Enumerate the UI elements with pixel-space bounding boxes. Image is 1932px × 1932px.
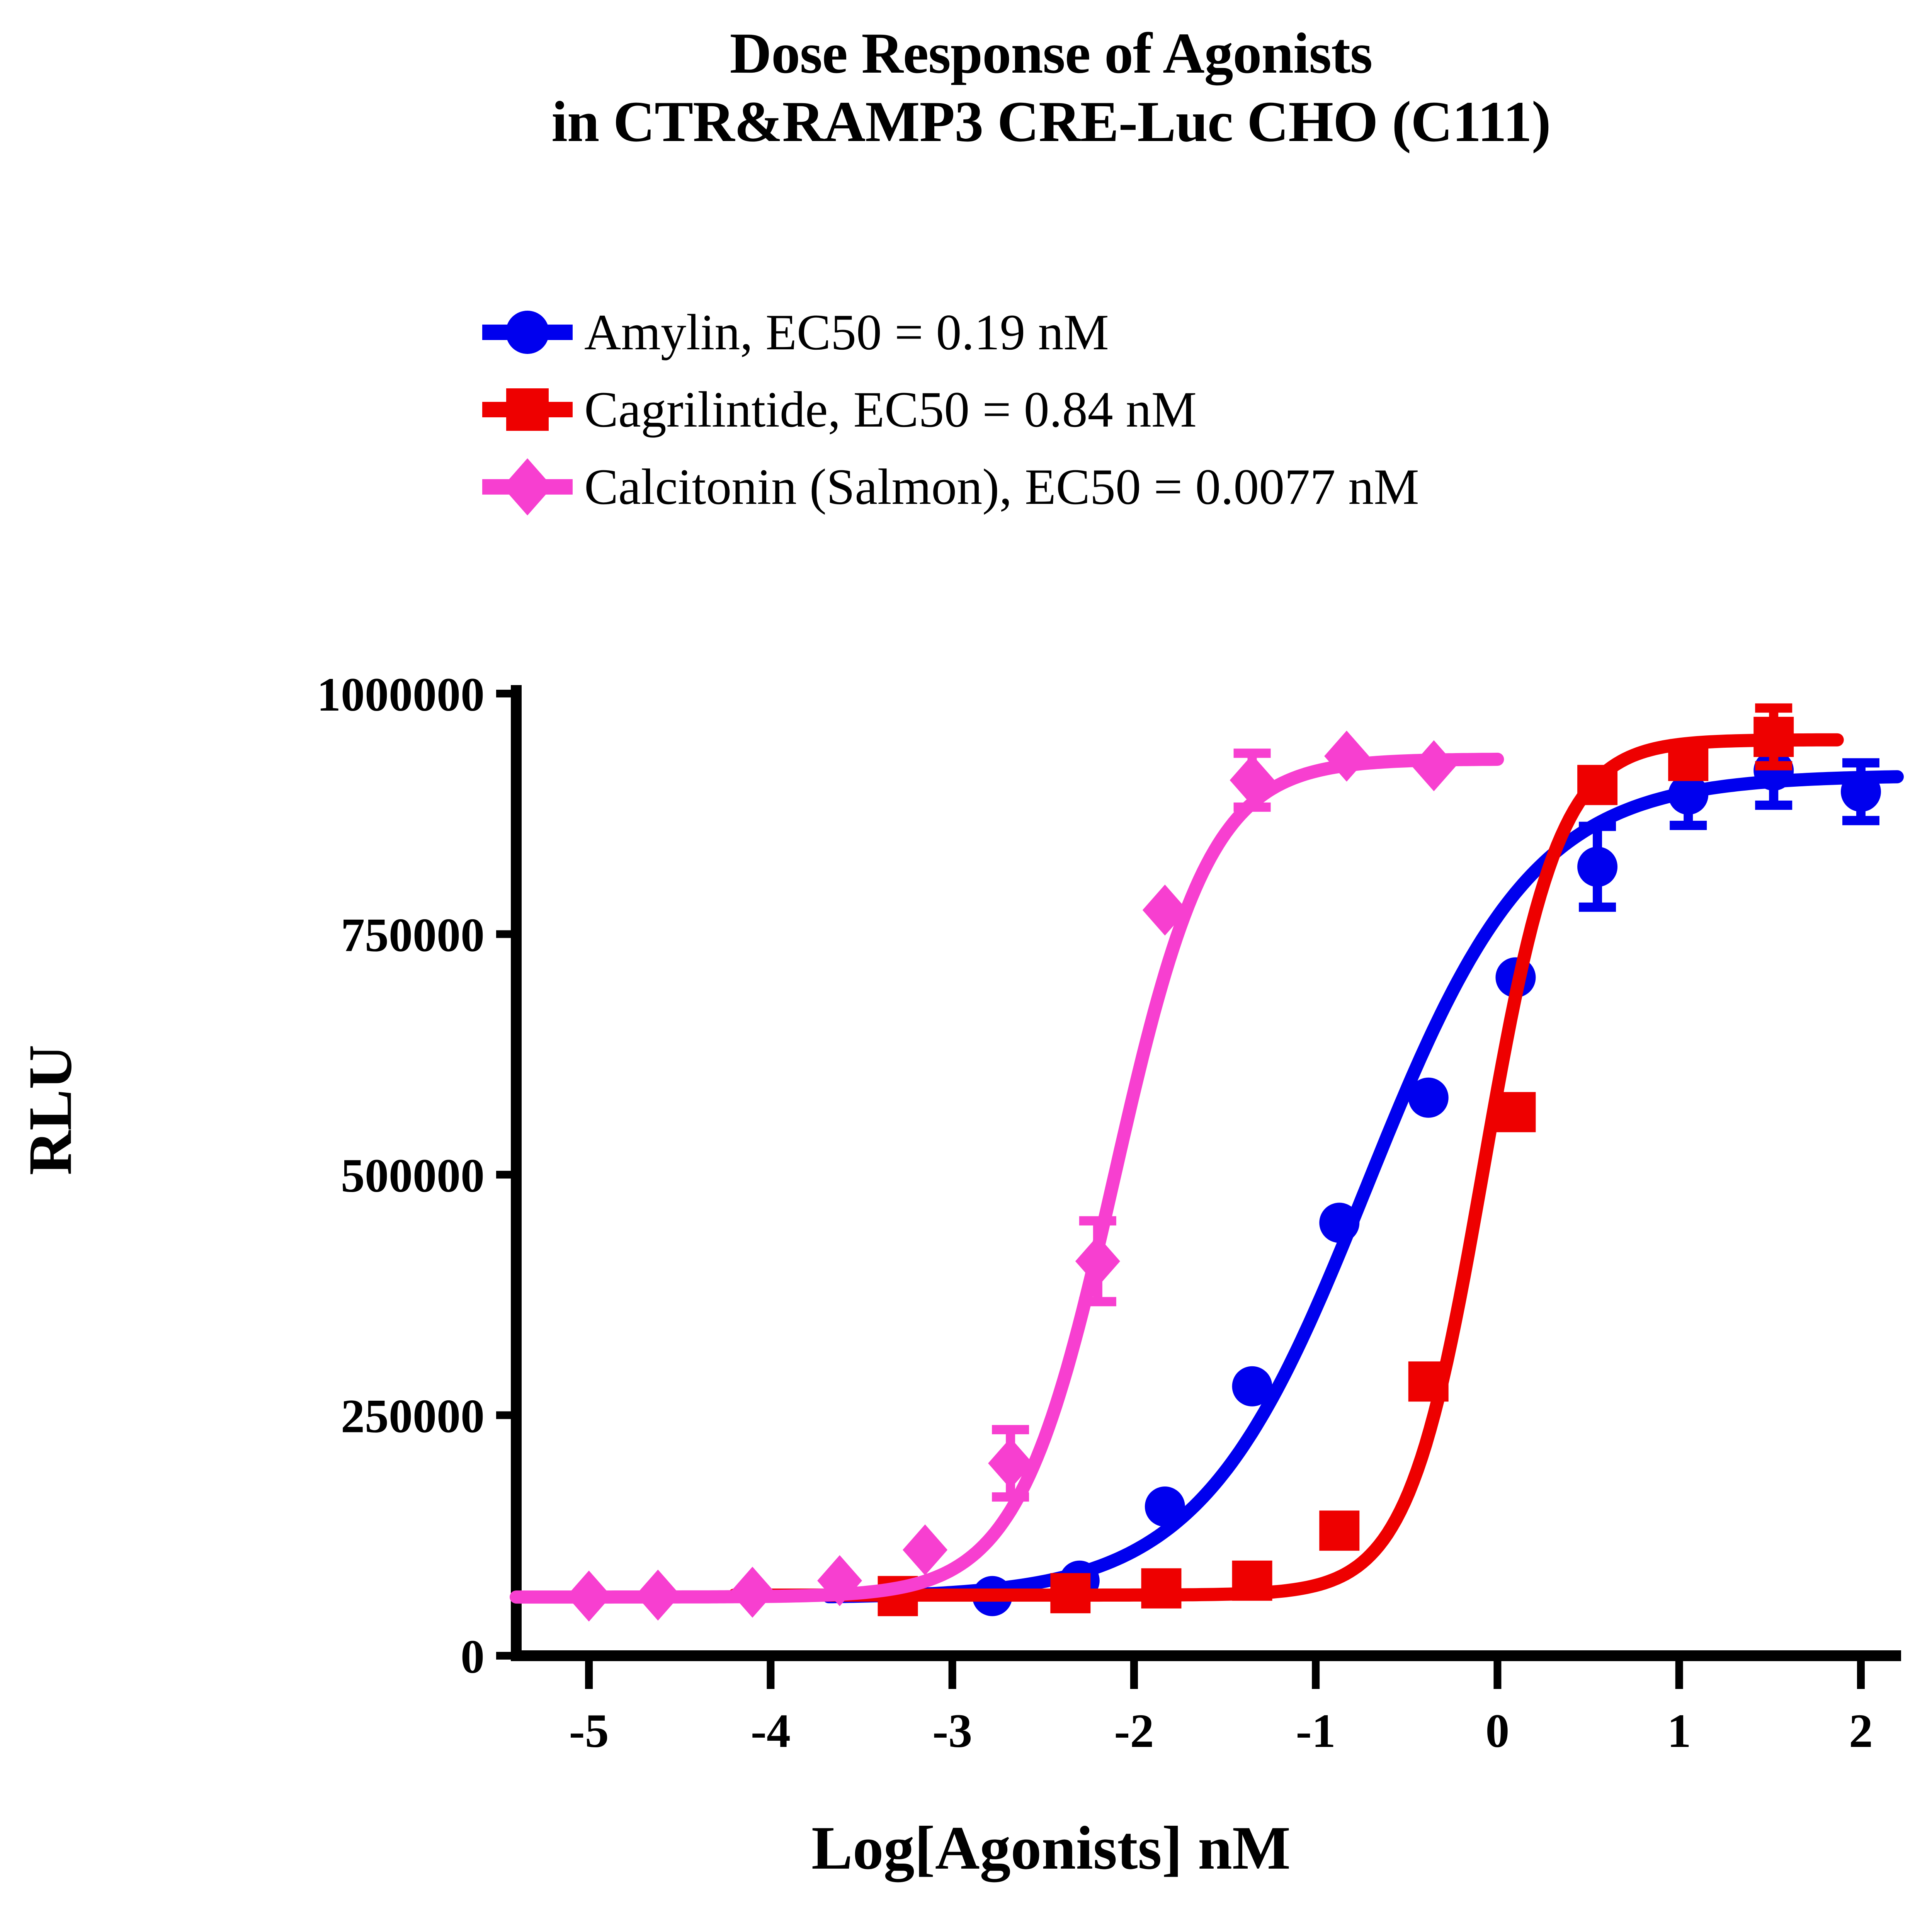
chart-legend: Amylin, EC50 = 0.19 nM Cagrilintide, EC5…	[479, 294, 1932, 526]
legend-key-cagrilintide	[479, 371, 576, 448]
chart-canvas: 02500005000007500001000000-5-4-3-2-1012	[0, 657, 1932, 1932]
data-point-square	[1408, 1361, 1449, 1401]
data-point-circle	[1841, 772, 1881, 812]
data-point-circle	[1232, 1366, 1272, 1406]
y-axis-tick-label: 500000	[341, 1149, 485, 1202]
x-axis-tick-label: -5	[569, 1704, 609, 1757]
legend-item-cagrilintide: Cagrilintide, EC50 = 0.84 nM	[479, 371, 1932, 448]
square-marker-icon	[479, 371, 576, 448]
data-point-square	[1050, 1573, 1090, 1613]
y-axis-tick-label: 250000	[341, 1390, 485, 1443]
data-point-circle	[1319, 1203, 1359, 1243]
data-point-square	[1495, 1092, 1536, 1132]
data-point-diamond	[1412, 740, 1456, 791]
data-point-square	[1319, 1510, 1359, 1551]
x-axis-tick-label: -4	[751, 1704, 791, 1757]
legend-key-amylin	[479, 294, 576, 371]
legend-label-amylin: Amylin, EC50 = 0.19 nM	[576, 307, 1109, 358]
legend-item-amylin: Amylin, EC50 = 0.19 nM	[479, 294, 1932, 371]
legend-label-calcitonin: Calcitonin (Salmon), EC50 = 0.0077 nM	[576, 461, 1419, 512]
data-point-square	[1232, 1561, 1272, 1601]
diamond-marker-icon	[479, 448, 576, 526]
data-point-square	[1668, 741, 1708, 781]
chart-title-line-1: Dose Response of Agonists	[0, 19, 1932, 88]
x-axis-tick-label: 2	[1849, 1704, 1873, 1757]
chart-title: Dose Response of Agonists in CTR&RAMP3 C…	[0, 19, 1932, 156]
data-series-amylin	[829, 736, 1897, 1616]
data-point-diamond	[903, 1524, 947, 1575]
x-axis-title: Log[Agonists] nM	[0, 1812, 1932, 1884]
x-axis-tick-label: 0	[1485, 1704, 1509, 1757]
data-point-diamond	[730, 1567, 775, 1618]
x-axis-tick-label: 1	[1667, 1704, 1691, 1757]
x-axis-tick-label: -1	[1296, 1704, 1336, 1757]
data-point-circle	[1145, 1486, 1185, 1527]
fit-curve	[734, 740, 1837, 1595]
chart-title-line-2: in CTR&RAMP3 CRE-Luc CHO (C111)	[0, 88, 1932, 156]
y-axis-tick-label: 1000000	[317, 668, 485, 721]
legend-label-cagrilintide: Cagrilintide, EC50 = 0.84 nM	[576, 384, 1197, 435]
circle-marker-icon	[479, 294, 576, 371]
data-point-square	[1753, 717, 1794, 757]
y-axis-tick-label: 0	[461, 1630, 485, 1683]
data-series-calcitonin-salmon	[516, 731, 1497, 1622]
legend-key-calcitonin	[479, 448, 576, 526]
x-axis-tick-label: -3	[932, 1704, 972, 1757]
data-point-circle	[1577, 847, 1617, 887]
y-axis-tick-label: 750000	[341, 909, 485, 962]
data-point-diamond	[1075, 1236, 1120, 1287]
data-point-diamond	[636, 1570, 680, 1621]
x-axis-tick-label: -2	[1114, 1704, 1154, 1757]
data-point-square	[1141, 1568, 1181, 1609]
data-series-cagrilintide	[734, 708, 1837, 1616]
legend-item-calcitonin: Calcitonin (Salmon), EC50 = 0.0077 nM	[479, 448, 1932, 526]
data-point-circle	[1408, 1078, 1449, 1118]
plot-area: 02500005000007500001000000-5-4-3-2-1012	[0, 657, 1932, 1932]
data-point-square	[1577, 765, 1617, 805]
chart-figure: Dose Response of Agonists in CTR&RAMP3 C…	[0, 0, 1932, 1932]
fit-curve	[829, 777, 1897, 1597]
y-axis-title: RLU	[15, 956, 86, 1265]
data-point-diamond	[566, 1571, 611, 1622]
